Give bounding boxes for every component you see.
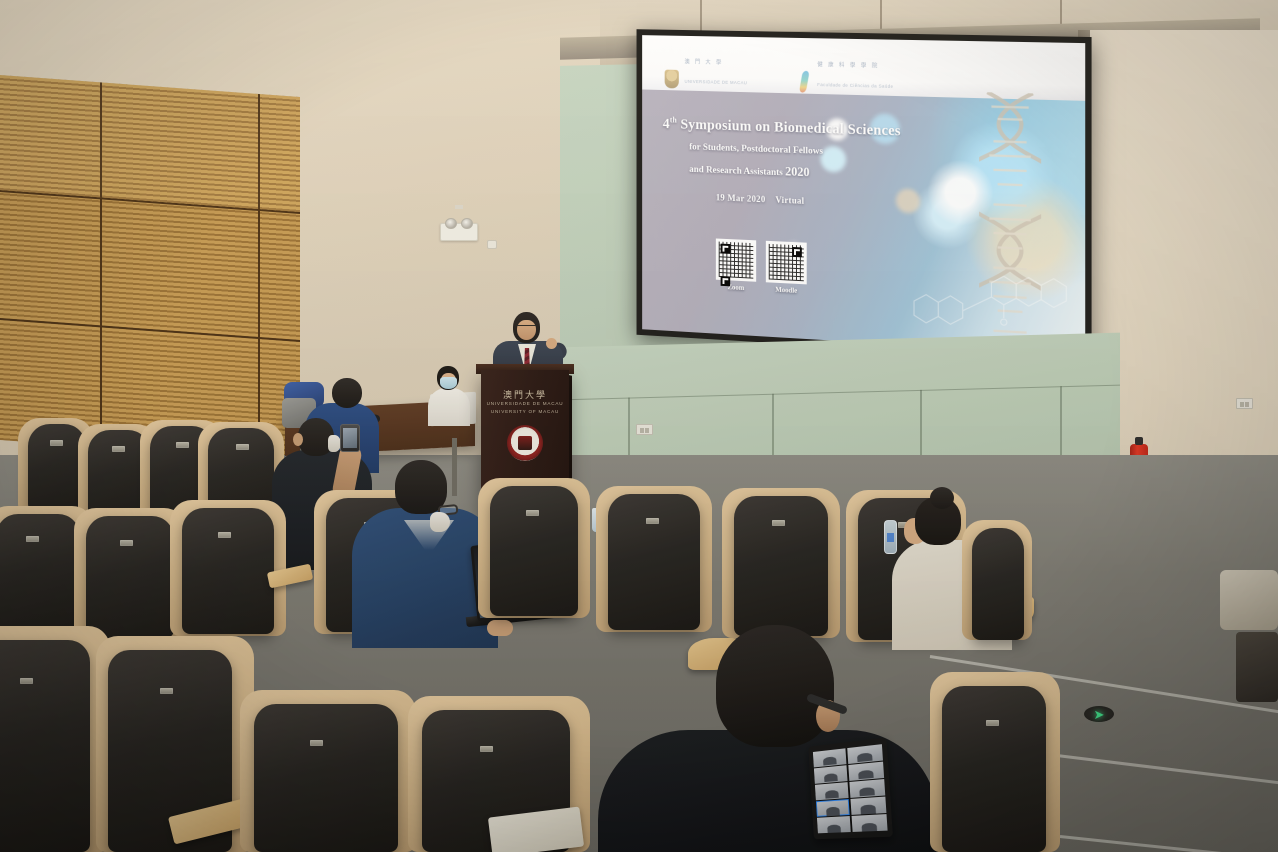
zoom-participant-tile[interactable]	[813, 748, 847, 767]
hand	[487, 620, 513, 636]
slide-date-mode: 19 Mar 2020 Virtual	[716, 192, 957, 212]
slide-text-block: 4th Symposium on Biomedical Sciences for…	[663, 115, 957, 212]
hair-bun	[930, 487, 954, 509]
slide-body: 4th Symposium on Biomedical Sciences for…	[642, 89, 1085, 355]
zoom-participant-tile[interactable]	[851, 814, 887, 832]
smartphone	[340, 424, 360, 452]
tablet-zoom-call[interactable]	[808, 737, 893, 839]
slide-surface: 澳 門 大 學 UNIVERSIDADE DE MACAU UNIVERSITY…	[642, 35, 1085, 355]
university-crest-icon	[507, 425, 543, 461]
face-mask-icon	[440, 377, 457, 389]
qr-code-group: Zoom Moodle	[716, 238, 807, 295]
wall-sensor-icon	[487, 240, 497, 249]
slide-title: 4th Symposium on Biomedical Sciences	[663, 115, 957, 142]
lecture-hall-photo: 澳 門 大 學 UNIVERSIDADE DE MACAU UNIVERSITY…	[0, 0, 1278, 852]
fhs-logo-cn: 健 康 科 學 學 院	[817, 62, 879, 69]
um-logo-cn: 澳 門 大 學	[684, 59, 723, 66]
water-bottle	[884, 520, 897, 554]
power-outlet-icon	[1236, 398, 1253, 409]
desk-leg	[452, 438, 457, 496]
podium-text-pt: UNIVERSIDADE DE MACAU	[481, 401, 569, 406]
smoke-detector-icon	[455, 205, 463, 209]
glasses-icon	[517, 325, 536, 329]
zoom-participant-tile-active[interactable]	[816, 799, 850, 816]
um-logo-pt: UNIVERSIDADE DE MACAU	[684, 79, 747, 85]
slide-subtitle-line1: for Students, Postdoctoral Fellows	[689, 142, 956, 161]
face-mask-icon	[430, 512, 450, 532]
um-crest-icon	[665, 69, 679, 88]
zoom-participant-tile[interactable]	[847, 744, 883, 763]
power-outlet-icon	[636, 424, 653, 435]
zoom-participant-tile[interactable]	[814, 765, 848, 783]
fhs-helix-icon	[796, 71, 812, 93]
qr-code-moodle	[766, 241, 807, 285]
stacked-chairs	[1236, 632, 1278, 702]
slide-subtitle-line2: and Research Assistants 2020	[689, 161, 956, 186]
zoom-gallery-grid[interactable]	[813, 744, 888, 833]
stacked-chairs	[1220, 570, 1278, 630]
zoom-participant-tile[interactable]	[848, 762, 884, 781]
zoom-participant-tile[interactable]	[815, 782, 849, 800]
zoom-participant-tile[interactable]	[850, 797, 886, 815]
fhs-logo-pt: Faculdade de Ciências da Saúde	[817, 82, 893, 89]
qr-label-moodle: Moodle	[766, 285, 807, 295]
zoom-participant-tile[interactable]	[817, 816, 851, 833]
podium-text-en: UNIVERSITY OF MACAU	[481, 409, 569, 414]
floor-exit-marker-icon: ➤	[1084, 706, 1114, 722]
podium-text-cn: 澳門大學	[481, 388, 569, 401]
emergency-light-icon	[440, 223, 478, 241]
zoom-participant-tile[interactable]	[849, 779, 885, 798]
projection-screen: 澳 門 大 學 UNIVERSIDADE DE MACAU UNIVERSITY…	[637, 29, 1092, 362]
